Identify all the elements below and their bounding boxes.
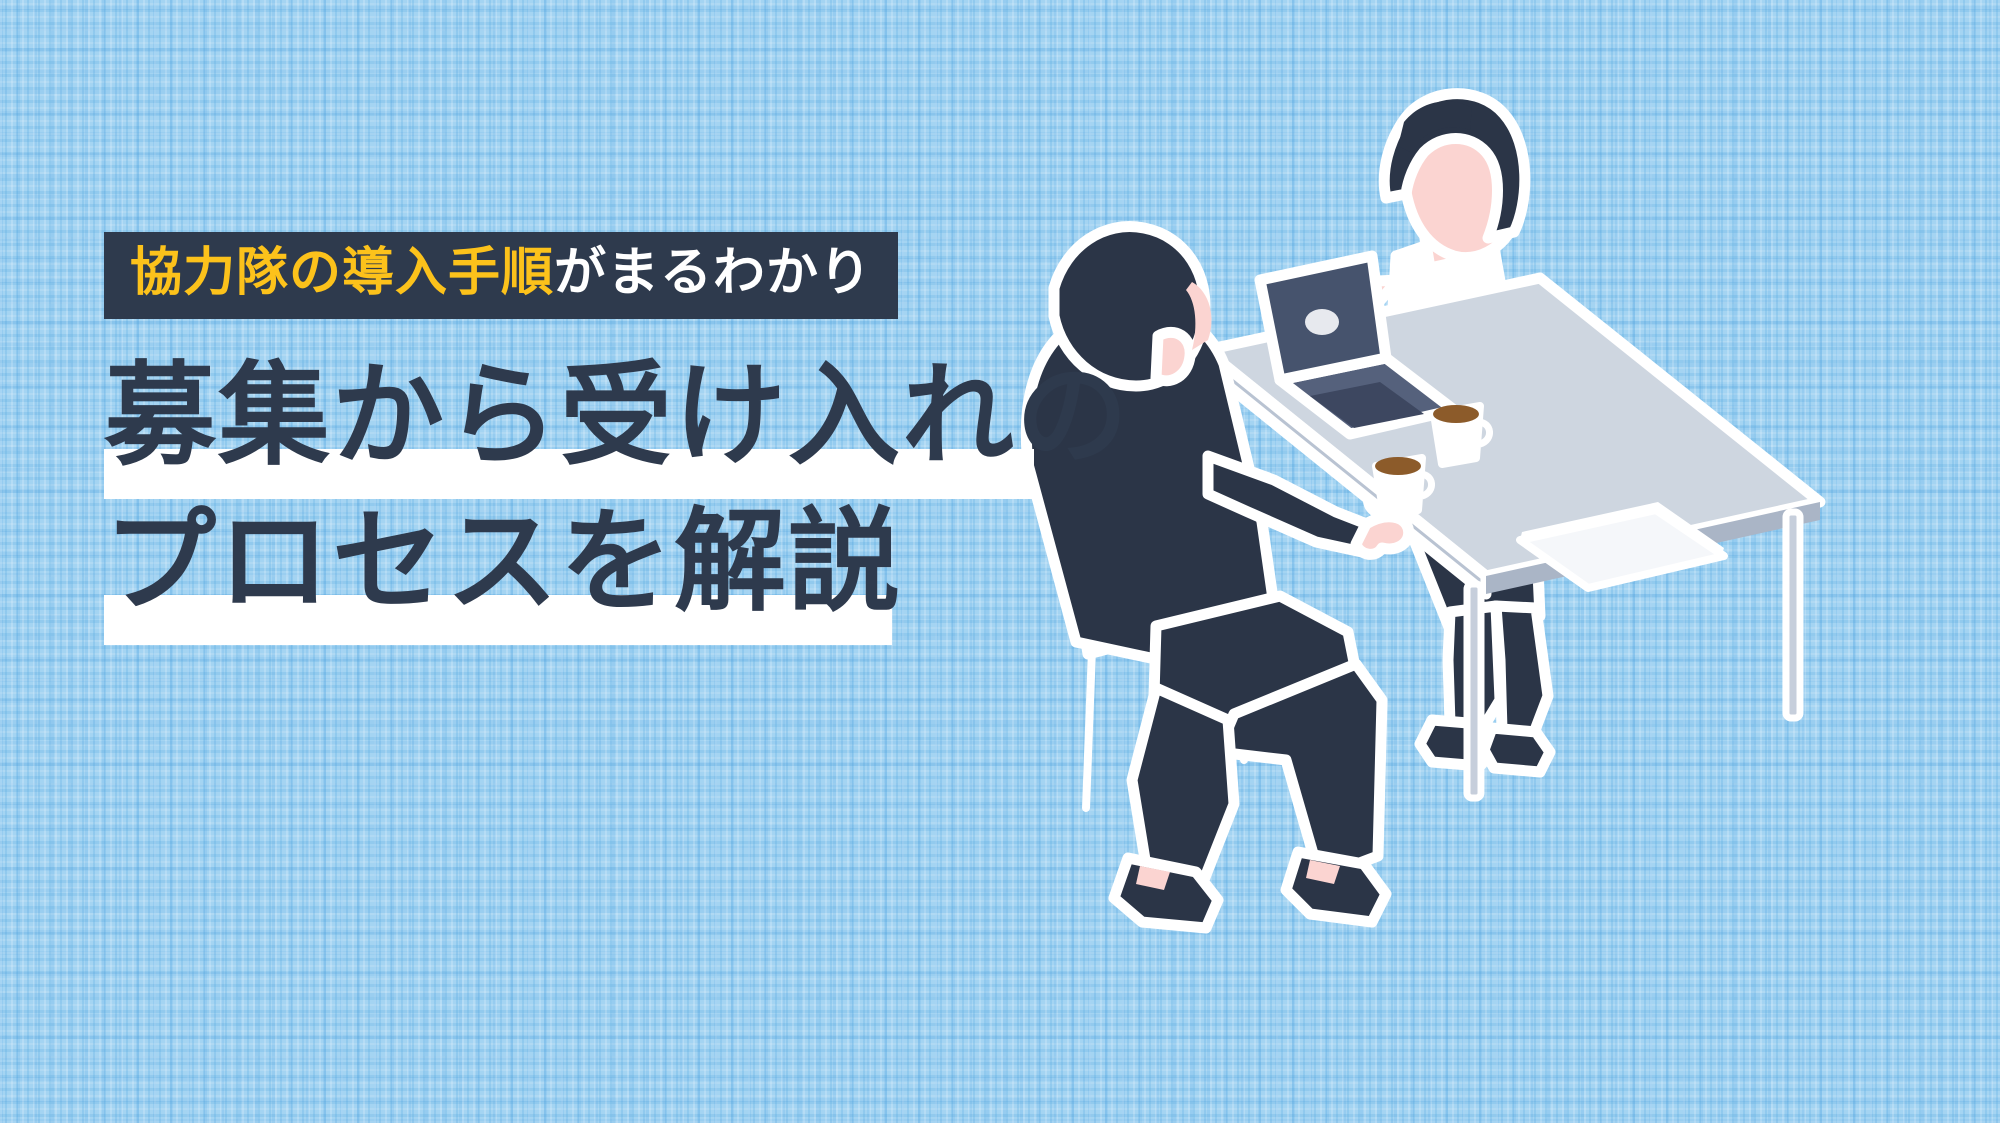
title-line-2: プロセスを解説 bbox=[104, 499, 1104, 627]
badge-rest-text: がまるわかり bbox=[554, 244, 872, 302]
page-title: 募集から受け入れの プロセスを解説 bbox=[104, 353, 1104, 627]
text-block: 協力隊の導入手順がまるわかり 募集から受け入れの プロセスを解説 bbox=[104, 232, 1104, 645]
badge-label: 協力隊の導入手順がまるわかり bbox=[104, 232, 898, 319]
badge-highlight-text: 協力隊の導入手順 bbox=[130, 244, 554, 302]
title-line-2-text: プロセスを解説 bbox=[104, 499, 902, 624]
title-line-1-text: 募集から受け入れの bbox=[104, 353, 1130, 478]
title-line-1: 募集から受け入れの bbox=[104, 353, 1104, 481]
illustration-isometric-office-meeting: .ol { stroke:#ffffff; stroke-width:11; s… bbox=[980, 60, 2000, 1070]
banner-root: .ol { stroke:#ffffff; stroke-width:11; s… bbox=[0, 0, 2000, 1123]
